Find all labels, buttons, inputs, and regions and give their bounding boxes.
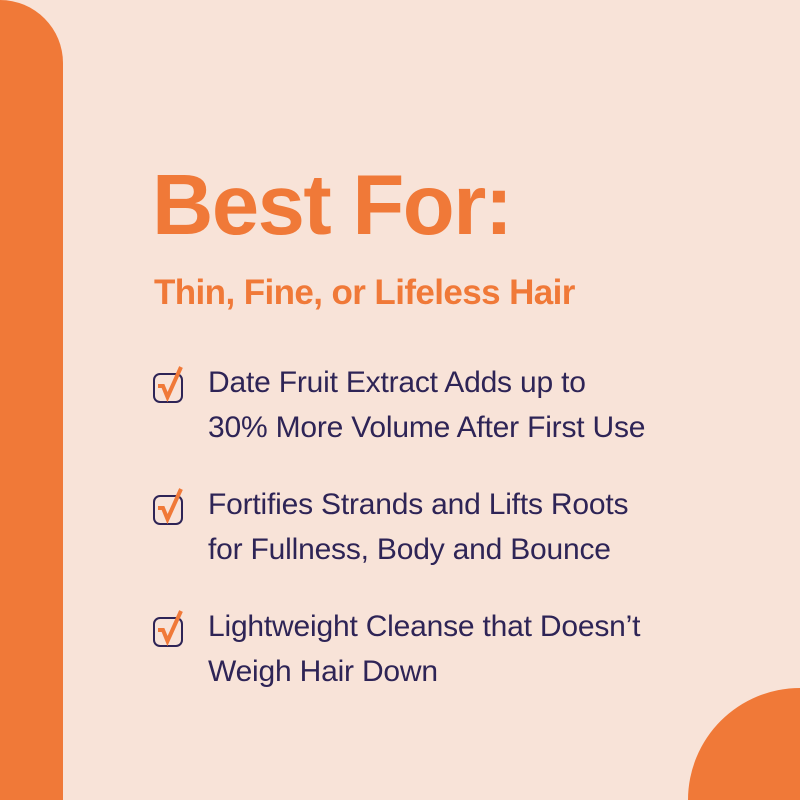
list-item: Fortifies Strands and Lifts Roots for Fu… [152, 482, 752, 572]
page-subtitle: Thin, Fine, or Lifeless Hair [154, 272, 575, 314]
list-item: Date Fruit Extract Adds up to 30% More V… [152, 360, 752, 450]
benefits-checklist: Date Fruit Extract Adds up to 30% More V… [152, 360, 752, 694]
page-title: Best For: [152, 163, 512, 248]
list-item-text: Date Fruit Extract Adds up to 30% More V… [208, 360, 645, 450]
list-item-text: Lightweight Cleanse that Doesn’t Weigh H… [208, 604, 640, 694]
left-orange-bar [0, 0, 63, 800]
checkbox-checked-icon [152, 610, 186, 648]
content-area: Best For: Thin, Fine, or Lifeless Hair D… [152, 0, 752, 800]
list-item-text: Fortifies Strands and Lifts Roots for Fu… [208, 482, 628, 572]
list-item-line: for Fullness, Body and Bounce [208, 527, 628, 572]
list-item-line: Lightweight Cleanse that Doesn’t [208, 604, 640, 649]
list-item-line: Date Fruit Extract Adds up to [208, 360, 645, 405]
list-item: Lightweight Cleanse that Doesn’t Weigh H… [152, 604, 752, 694]
checkbox-checked-icon [152, 488, 186, 526]
list-item-line: 30% More Volume After First Use [208, 405, 645, 450]
list-item-line: Fortifies Strands and Lifts Roots [208, 482, 628, 527]
promo-poster: Best For: Thin, Fine, or Lifeless Hair D… [0, 0, 800, 800]
checkbox-checked-icon [152, 366, 186, 404]
list-item-line: Weigh Hair Down [208, 649, 640, 694]
